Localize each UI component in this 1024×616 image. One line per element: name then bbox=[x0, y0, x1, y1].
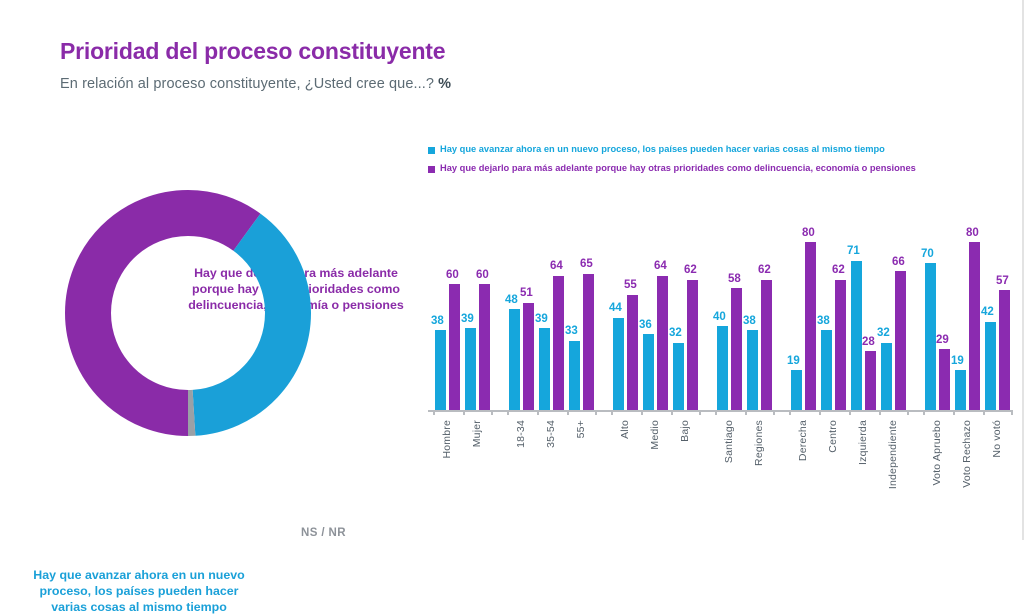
bar-blue bbox=[509, 309, 520, 410]
category-label: Santiago bbox=[723, 420, 735, 463]
donut-value-blue: 39% bbox=[130, 531, 172, 555]
axis-group-tick bbox=[1011, 410, 1013, 415]
bar-pair: 1980 bbox=[952, 200, 986, 410]
bar-value-purple: 80 bbox=[966, 228, 979, 240]
bar-value-purple: 28 bbox=[862, 337, 875, 349]
axis-tick bbox=[819, 410, 821, 415]
bar-chart-legend: Hay que avanzar ahora en un nuevo proces… bbox=[428, 144, 1018, 182]
bar-purple bbox=[895, 271, 906, 410]
bar-blue bbox=[821, 330, 832, 410]
bar-pair: 1980 bbox=[788, 200, 822, 410]
bar-value-blue: 48 bbox=[505, 295, 518, 307]
bar-value-blue: 19 bbox=[787, 356, 800, 368]
axis-tick bbox=[715, 410, 717, 415]
bar-chart-plot: 3860396048513964336544553664326240583862… bbox=[428, 200, 1013, 410]
axis-tick bbox=[433, 410, 435, 415]
axis-tick bbox=[923, 410, 925, 415]
legend-item-avanzar: Hay que avanzar ahora en un nuevo proces… bbox=[428, 144, 1018, 154]
category-label: 35-54 bbox=[545, 420, 557, 448]
bar-blue bbox=[717, 326, 728, 410]
bar-blue bbox=[747, 330, 758, 410]
bar-value-blue: 33 bbox=[565, 326, 578, 338]
bar-blue bbox=[925, 263, 936, 410]
bar-value-purple: 57 bbox=[996, 276, 1009, 288]
category-label: Medio bbox=[649, 420, 661, 450]
bar-value-blue: 36 bbox=[639, 320, 652, 332]
bar-blue bbox=[613, 318, 624, 410]
category-label: Independiente bbox=[887, 420, 899, 489]
bar-value-purple: 80 bbox=[802, 228, 815, 240]
bar-chart-axis bbox=[428, 410, 1013, 412]
axis-tick bbox=[611, 410, 613, 415]
header: Prioridad del proceso constituyente En r… bbox=[60, 38, 451, 92]
slide-canvas: Prioridad del proceso constituyente En r… bbox=[0, 0, 1024, 540]
bar-pair: 3862 bbox=[744, 200, 778, 410]
bar-blue bbox=[851, 261, 862, 410]
axis-tick bbox=[745, 410, 747, 415]
bar-pair: 4851 bbox=[506, 200, 540, 410]
axis-group-tick bbox=[907, 410, 909, 415]
bar-blue bbox=[435, 330, 446, 410]
bar-purple bbox=[553, 276, 564, 410]
donut-chart bbox=[63, 188, 313, 438]
bar-pair: 4058 bbox=[714, 200, 748, 410]
bar-value-purple: 60 bbox=[446, 270, 459, 282]
axis-tick bbox=[507, 410, 509, 415]
axis-tick bbox=[463, 410, 465, 415]
bar-purple bbox=[835, 280, 846, 410]
legend-label-purple: Hay que dejarlo para más adelante porque… bbox=[440, 163, 916, 173]
bar-purple bbox=[523, 303, 534, 410]
bar-pair: 3262 bbox=[670, 200, 704, 410]
category-label: Regiones bbox=[753, 420, 765, 466]
bar-purple bbox=[583, 274, 594, 411]
axis-group-tick bbox=[491, 410, 493, 415]
bar-blue bbox=[465, 328, 476, 410]
bar-value-purple: 62 bbox=[832, 265, 845, 277]
bar-purple bbox=[999, 290, 1010, 410]
bar-purple bbox=[479, 284, 490, 410]
category-label: Voto Apruebo bbox=[931, 420, 943, 485]
bar-blue bbox=[539, 328, 550, 410]
category-label: Voto Rechazo bbox=[961, 420, 973, 488]
bar-purple bbox=[627, 295, 638, 411]
donut-label-blue: Hay que avanzar ahora en un nuevo proces… bbox=[30, 568, 248, 616]
axis-tick bbox=[879, 410, 881, 415]
legend-swatch-purple-icon bbox=[428, 166, 435, 173]
subtitle-text: En relación al proceso constituyente, ¿U… bbox=[60, 76, 438, 92]
bar-value-blue: 19 bbox=[951, 356, 964, 368]
bar-pair: 3862 bbox=[818, 200, 852, 410]
bar-value-purple: 62 bbox=[758, 265, 771, 277]
bar-blue bbox=[643, 334, 654, 410]
category-label: Derecha bbox=[797, 420, 809, 461]
bar-value-blue: 38 bbox=[817, 316, 830, 328]
bar-value-purple: 65 bbox=[580, 259, 593, 271]
category-label: Mujer bbox=[471, 420, 483, 447]
category-label: Bajo bbox=[679, 420, 691, 442]
axis-tick bbox=[537, 410, 539, 415]
axis-tick bbox=[789, 410, 791, 415]
category-label: Centro bbox=[827, 420, 839, 453]
bar-purple bbox=[449, 284, 460, 410]
bar-blue bbox=[673, 343, 684, 410]
bar-value-purple: 64 bbox=[550, 261, 563, 273]
bar-purple bbox=[939, 349, 950, 410]
category-label: Hombre bbox=[441, 420, 453, 459]
bar-pair: 3365 bbox=[566, 200, 600, 410]
bar-value-blue: 40 bbox=[713, 312, 726, 324]
bar-purple bbox=[969, 242, 980, 410]
bar-purple bbox=[761, 280, 772, 410]
bar-value-blue: 32 bbox=[877, 328, 890, 340]
axis-tick bbox=[671, 410, 673, 415]
bar-pair: 3964 bbox=[536, 200, 570, 410]
bar-value-blue: 38 bbox=[431, 316, 444, 328]
donut-label-ns: NS / NR bbox=[301, 526, 346, 541]
bar-value-blue: 44 bbox=[609, 303, 622, 315]
bar-pair: 3860 bbox=[432, 200, 466, 410]
legend-label-blue: Hay que avanzar ahora en un nuevo proces… bbox=[440, 144, 885, 154]
bar-value-blue: 71 bbox=[847, 246, 860, 258]
legend-swatch-blue-icon bbox=[428, 147, 435, 154]
bar-purple bbox=[657, 276, 668, 410]
page-subtitle: En relación al proceso constituyente, ¿U… bbox=[60, 76, 451, 92]
bar-pair: 3664 bbox=[640, 200, 674, 410]
donut-value-ns: 1% bbox=[258, 504, 277, 519]
axis-group-tick bbox=[699, 410, 701, 415]
bar-blue bbox=[881, 343, 892, 410]
bar-purple bbox=[805, 242, 816, 410]
bar-value-blue: 70 bbox=[921, 249, 934, 261]
bar-value-blue: 38 bbox=[743, 316, 756, 328]
bar-value-blue: 42 bbox=[981, 307, 994, 319]
axis-tick bbox=[953, 410, 955, 415]
bar-pair: 4257 bbox=[982, 200, 1016, 410]
category-label: Alto bbox=[619, 420, 631, 439]
bar-value-blue: 39 bbox=[461, 314, 474, 326]
bar-value-blue: 32 bbox=[669, 328, 682, 340]
category-label: 18-34 bbox=[515, 420, 527, 448]
bar-value-purple: 29 bbox=[936, 335, 949, 347]
bar-blue bbox=[791, 370, 802, 410]
bar-value-purple: 60 bbox=[476, 270, 489, 282]
bar-blue bbox=[985, 322, 996, 410]
bar-chart-panel: Hay que avanzar ahora en un nuevo proces… bbox=[420, 138, 1018, 533]
bar-value-purple: 62 bbox=[684, 265, 697, 277]
bar-pair: 3266 bbox=[878, 200, 912, 410]
bar-value-purple: 51 bbox=[520, 288, 533, 300]
bar-value-purple: 66 bbox=[892, 257, 905, 269]
bar-purple bbox=[687, 280, 698, 410]
category-label: No votó bbox=[991, 420, 1003, 458]
bar-value-purple: 58 bbox=[728, 274, 741, 286]
bar-blue bbox=[955, 370, 966, 410]
bar-value-purple: 64 bbox=[654, 261, 667, 273]
subtitle-percent: % bbox=[438, 76, 451, 92]
bar-pair: 3960 bbox=[462, 200, 496, 410]
legend-item-dejarlo: Hay que dejarlo para más adelante porque… bbox=[428, 163, 1018, 173]
category-label: Izquierda bbox=[857, 420, 869, 465]
bar-pair: 7128 bbox=[848, 200, 882, 410]
axis-tick bbox=[983, 410, 985, 415]
bar-pair: 7029 bbox=[922, 200, 956, 410]
axis-tick bbox=[641, 410, 643, 415]
page-title: Prioridad del proceso constituyente bbox=[60, 38, 451, 65]
bar-value-blue: 39 bbox=[535, 314, 548, 326]
bar-blue bbox=[569, 341, 580, 410]
donut-svg bbox=[63, 188, 313, 438]
axis-group-tick bbox=[773, 410, 775, 415]
bar-purple bbox=[731, 288, 742, 410]
category-label: 55+ bbox=[575, 420, 587, 438]
bar-pair: 4455 bbox=[610, 200, 644, 410]
bar-purple bbox=[865, 351, 876, 410]
donut-chart-panel: Hay que dejarlo para más adelante porque… bbox=[18, 128, 418, 528]
bar-value-purple: 55 bbox=[624, 280, 637, 292]
axis-tick bbox=[567, 410, 569, 415]
axis-tick bbox=[849, 410, 851, 415]
axis-group-tick bbox=[595, 410, 597, 415]
